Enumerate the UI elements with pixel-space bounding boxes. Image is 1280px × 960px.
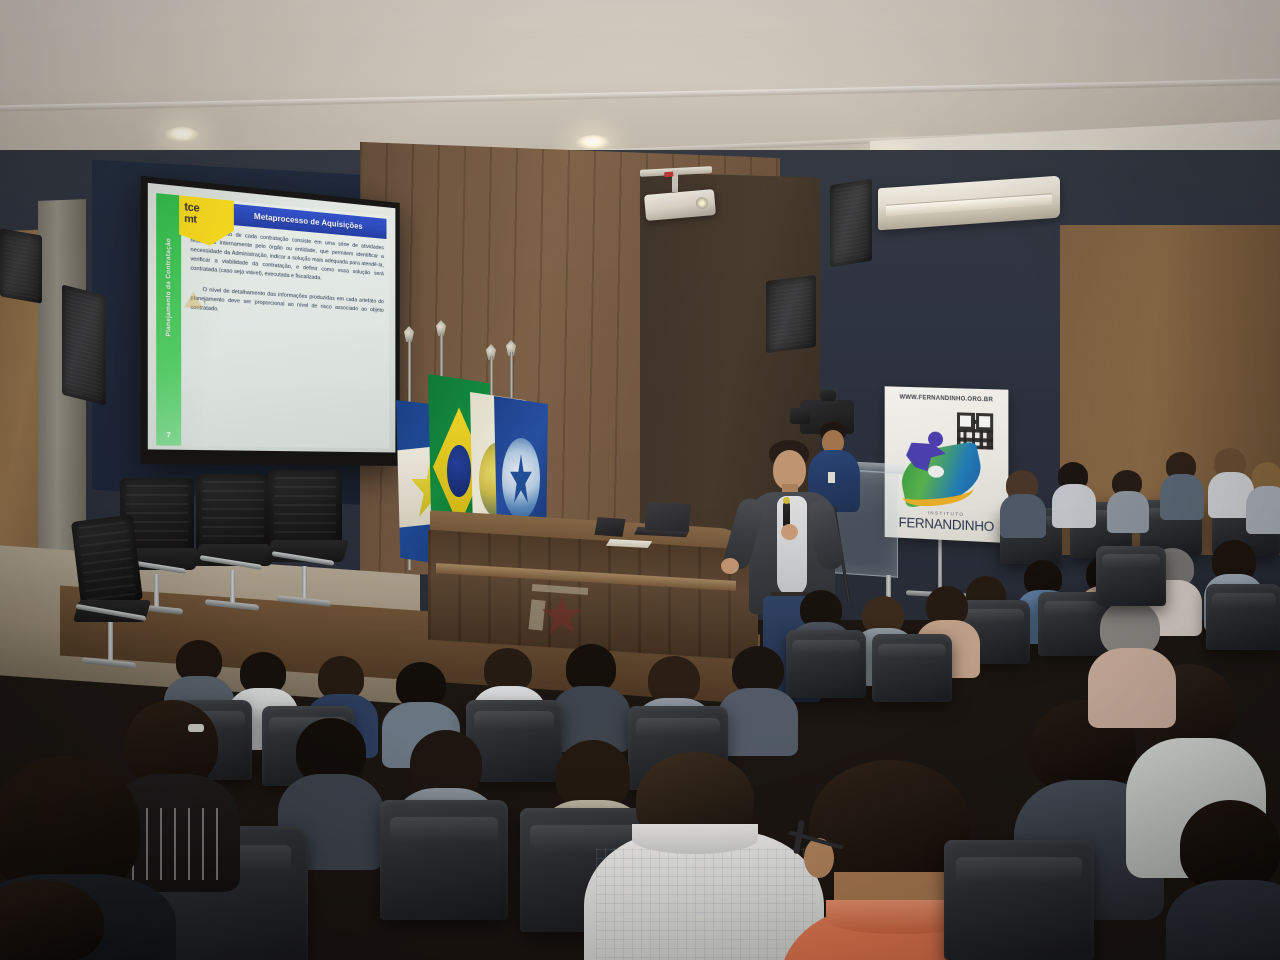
flag-blue-emblem bbox=[502, 438, 541, 519]
slide-sidebar: Planejamento da Contratação 7 bbox=[156, 193, 181, 446]
audience-seat[interactable] bbox=[786, 630, 866, 698]
wall-speaker-icon bbox=[0, 228, 42, 303]
ceiling-light bbox=[576, 135, 610, 150]
audience-torso bbox=[1000, 494, 1046, 538]
projector-lens bbox=[695, 197, 708, 210]
audience-hair bbox=[1180, 800, 1280, 892]
wall-speaker-icon bbox=[830, 179, 872, 268]
emblem-bar-top bbox=[532, 584, 588, 595]
audience-seat[interactable] bbox=[872, 634, 952, 702]
stage-chair-back bbox=[268, 470, 342, 548]
hair-tie bbox=[188, 724, 204, 732]
audience-torso bbox=[1246, 486, 1280, 534]
audience-torso bbox=[1107, 491, 1149, 533]
audience-torso bbox=[1088, 648, 1176, 728]
microphone-tip bbox=[783, 497, 790, 504]
shirt-collar bbox=[632, 824, 758, 854]
laptop-secondary-icon[interactable] bbox=[594, 517, 625, 537]
stage-chair-post bbox=[302, 566, 307, 600]
banner-swoosh-shape bbox=[901, 477, 975, 507]
slide-title: Metaprocesso de Aquisições bbox=[254, 212, 363, 231]
presentation-slide: Planejamento da Contratação 7 tce mt Met… bbox=[156, 193, 389, 448]
banner-leaf-highlight bbox=[928, 465, 944, 478]
slide-paragraph-2-wrap: O nível de detalhamento das informações … bbox=[190, 285, 383, 324]
audience-seat[interactable] bbox=[1096, 546, 1166, 606]
audience-seat[interactable] bbox=[380, 800, 508, 920]
audience-seat-foreground[interactable] bbox=[944, 840, 1094, 960]
presenter-hand-left bbox=[721, 558, 739, 574]
laptop-icon[interactable] bbox=[645, 502, 692, 532]
slide-paragraph-2: O nível de detalhamento das informações … bbox=[190, 287, 383, 314]
video-camera-lens-hood bbox=[790, 408, 810, 424]
stage-chair-post bbox=[108, 622, 113, 662]
presenter-shirt bbox=[777, 496, 807, 596]
video-camera-viewfinder bbox=[820, 390, 836, 401]
dress-stripes bbox=[132, 808, 218, 880]
slide-page-number: 7 bbox=[156, 432, 181, 440]
stage-chair-post bbox=[230, 570, 235, 604]
slide-body: O planejamento de cada contratação consi… bbox=[190, 227, 383, 324]
audience-hair bbox=[566, 644, 616, 692]
flag-br-globe bbox=[447, 445, 472, 497]
audience-seat[interactable] bbox=[1206, 584, 1280, 650]
projector-indicator bbox=[664, 171, 673, 177]
emblem-bar-side bbox=[528, 599, 545, 630]
presenter-hand-right bbox=[781, 524, 798, 540]
air-conditioner-vent bbox=[886, 193, 1052, 216]
ceiling-light bbox=[165, 127, 199, 142]
tce-mt-logo-text: tce mt bbox=[184, 202, 231, 228]
emblem-star-icon bbox=[542, 596, 582, 634]
stage-chair-back bbox=[196, 474, 270, 552]
projection-screen-surface: Planejamento da Contratação 7 tce mt Met… bbox=[148, 183, 396, 453]
projection-screen: Planejamento da Contratação 7 tce mt Met… bbox=[140, 176, 399, 466]
wall-speaker-icon bbox=[62, 285, 106, 406]
audience-torso bbox=[1166, 880, 1280, 960]
audience-hair bbox=[648, 656, 700, 704]
shirt-check-pattern bbox=[596, 848, 816, 960]
banner-url-text: WWW.FERNANDINHO.ORG.BR bbox=[885, 394, 1009, 404]
audience-torso bbox=[1160, 474, 1204, 520]
institutional-emblem bbox=[528, 582, 602, 646]
warning-triangle-icon bbox=[184, 291, 202, 309]
audience-torso bbox=[718, 688, 798, 756]
stage-chair-back bbox=[71, 515, 143, 608]
auditorium-photo: Planejamento da Contratação 7 tce mt Met… bbox=[0, 0, 1280, 960]
audience-hair bbox=[732, 646, 784, 694]
wall-speaker-icon bbox=[766, 275, 816, 353]
camera-operator-badge bbox=[828, 472, 835, 483]
stage-chair-post bbox=[154, 574, 159, 608]
banner-runner-head bbox=[928, 431, 943, 447]
slide-sidebar-label: Planejamento da Contratação bbox=[165, 214, 172, 360]
audience-torso bbox=[1052, 484, 1096, 528]
